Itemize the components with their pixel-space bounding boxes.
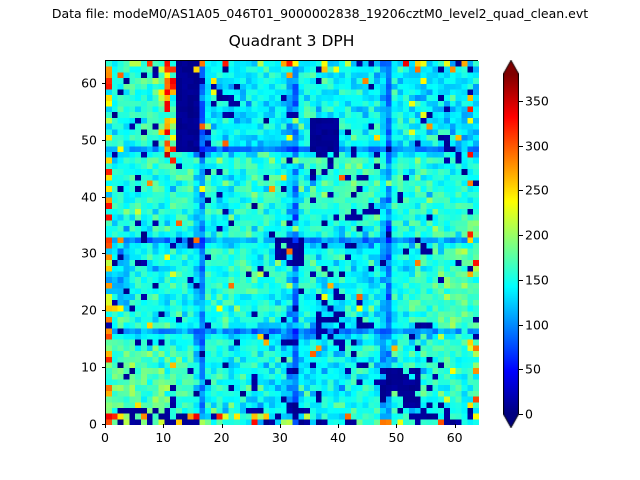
colorbar-tick-mark — [519, 369, 523, 370]
x-tick-mark — [222, 424, 223, 428]
y-tick-mark — [102, 197, 106, 198]
x-tick-label: 40 — [330, 430, 346, 445]
y-tick-label: 10 — [59, 360, 97, 375]
colorbar-tick-mark — [519, 101, 523, 102]
colorbar-tick-label: 0 — [525, 407, 533, 422]
heatmap-axes[interactable] — [105, 60, 478, 424]
page-title: Quadrant 3 DPH — [105, 32, 478, 50]
colorbar-tick-mark — [519, 190, 523, 191]
y-tick-label: 20 — [59, 303, 97, 318]
x-tick-mark — [105, 424, 106, 428]
datafile-label: Data file: modeM0/AS1A05_046T01_90000028… — [0, 6, 640, 21]
y-tick-mark — [102, 424, 106, 425]
x-tick-label: 10 — [155, 430, 171, 445]
heatmap-image[interactable] — [106, 61, 479, 425]
colorbar-tick-mark — [519, 414, 523, 415]
colorbar-tick-mark — [519, 146, 523, 147]
colorbar-tick-label: 250 — [525, 183, 549, 198]
x-tick-mark — [280, 424, 281, 428]
colorbar-tick-label: 100 — [525, 317, 549, 332]
colorbar-tick-mark — [519, 280, 523, 281]
figure-canvas: Data file: modeM0/AS1A05_046T01_90000028… — [0, 0, 640, 480]
y-tick-label: 60 — [59, 75, 97, 90]
colorbar-gradient[interactable] — [503, 60, 519, 428]
x-tick-label: 50 — [388, 430, 404, 445]
x-tick-label: 20 — [214, 430, 230, 445]
x-tick-mark — [163, 424, 164, 428]
colorbar-tick-label: 350 — [525, 93, 549, 108]
colorbar-tick-mark — [519, 325, 523, 326]
y-tick-mark — [102, 310, 106, 311]
colorbar[interactable] — [503, 60, 519, 428]
x-tick-label: 60 — [447, 430, 463, 445]
y-tick-mark — [102, 253, 106, 254]
y-tick-mark — [102, 367, 106, 368]
colorbar-tick-mark — [519, 235, 523, 236]
x-tick-label: 0 — [101, 430, 109, 445]
colorbar-tick-label: 300 — [525, 138, 549, 153]
y-tick-mark — [102, 83, 106, 84]
y-tick-mark — [102, 140, 106, 141]
x-tick-mark — [396, 424, 397, 428]
x-tick-label: 30 — [272, 430, 288, 445]
y-tick-label: 50 — [59, 132, 97, 147]
x-tick-mark — [455, 424, 456, 428]
colorbar-tick-label: 50 — [525, 362, 541, 377]
y-tick-label: 40 — [59, 189, 97, 204]
colorbar-tick-label: 150 — [525, 272, 549, 287]
colorbar-tick-label: 200 — [525, 228, 549, 243]
y-tick-label: 0 — [59, 417, 97, 432]
y-tick-label: 30 — [59, 246, 97, 261]
x-tick-mark — [338, 424, 339, 428]
